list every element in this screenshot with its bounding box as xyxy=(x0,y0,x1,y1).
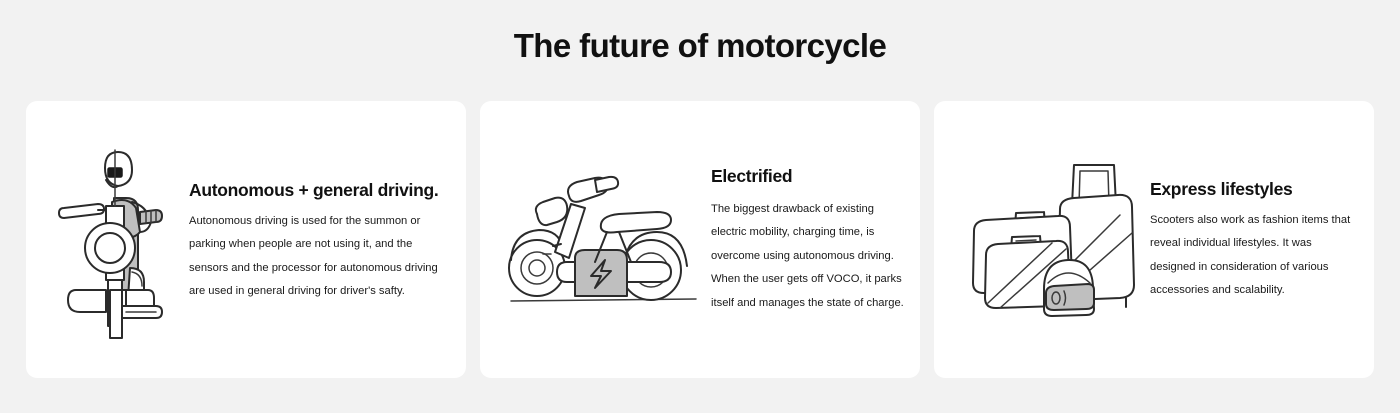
card-content: Autonomous + general driving. Autonomous… xyxy=(189,176,466,304)
feature-card-electrified[interactable]: Electrified The biggest drawback of exis… xyxy=(480,101,920,378)
electric-scooter-side-view-icon xyxy=(480,170,711,310)
card-body-text: The biggest drawback of existing electri… xyxy=(711,198,906,316)
rider-on-motorcycle-front-view-icon xyxy=(26,140,189,340)
feature-card-list: Autonomous + general driving. Autonomous… xyxy=(26,101,1374,378)
card-heading: Electrified xyxy=(711,166,906,187)
card-body-text: Scooters also work as fashion items that… xyxy=(1150,209,1360,303)
card-heading: Autonomous + general driving. xyxy=(189,180,452,201)
page-title: The future of motorcycle xyxy=(0,28,1400,64)
card-body-text: Autonomous driving is used for the summo… xyxy=(189,210,452,304)
feature-card-autonomous-driving[interactable]: Autonomous + general driving. Autonomous… xyxy=(26,101,466,378)
feature-card-express-lifestyles[interactable]: Express lifestyles Scooters also work as… xyxy=(934,101,1374,378)
luggage-and-helmet-icon xyxy=(934,157,1150,322)
card-content: Express lifestyles Scooters also work as… xyxy=(1150,177,1374,303)
card-heading: Express lifestyles xyxy=(1150,179,1360,200)
card-content: Electrified The biggest drawback of exis… xyxy=(711,164,920,316)
